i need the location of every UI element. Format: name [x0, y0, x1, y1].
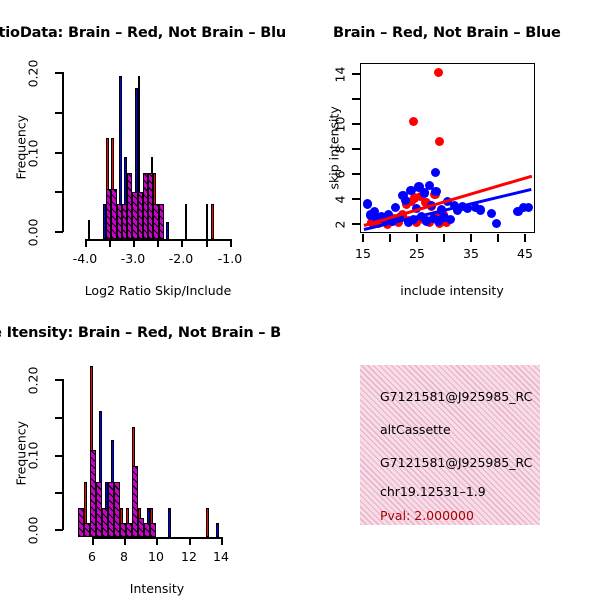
scatter-xticklabel-45: 45 — [505, 246, 545, 261]
scatter-xlabel: include intensity — [377, 283, 527, 298]
scatter-title: Brain – Red, Not Brain – Blue — [333, 25, 561, 41]
histogram-bar-overlap — [150, 523, 156, 537]
histogram-bar-brain — [206, 204, 209, 239]
info-line-probe-id: G7121581@J925985_RC — [380, 455, 532, 470]
scatter-point-not-brain — [476, 205, 485, 214]
scatter-ytick-6 — [352, 173, 360, 175]
panel-ratio-histogram: RatioData: Brain – Red, Not Brain – Blu … — [0, 0, 300, 300]
scatter-yticklabel-6: 6 — [333, 163, 348, 187]
scatter-point-brain — [434, 68, 443, 77]
scatter-yticklabel-14: 14 — [333, 59, 348, 91]
scatter-point-not-brain — [524, 203, 533, 212]
scatter-yticklabel-10: 10 — [333, 109, 348, 141]
scatter-ytick-12 — [352, 98, 360, 100]
scatter-point-not-brain — [431, 168, 440, 177]
scatter-xtick-30 — [443, 234, 445, 242]
scatter-xticklabel-25: 25 — [397, 246, 437, 261]
scatter-yticklabel-2: 2 — [333, 213, 348, 237]
panel-scatter: Brain – Red, Not Brain – Blue skip inten… — [300, 0, 600, 300]
scatter-point-not-brain — [492, 219, 501, 228]
scatter-ytick-14 — [352, 73, 360, 75]
scatter-point-not-brain — [431, 187, 440, 196]
scatter-point-not-brain — [446, 215, 455, 224]
scatter-yticklabel-4: 4 — [333, 188, 348, 212]
scatter-ytick-2 — [352, 223, 360, 225]
scatter-xtick-40 — [497, 234, 499, 242]
histogram-bar-not-brain — [88, 220, 91, 239]
scatter-xtick-15 — [362, 234, 364, 242]
histogram-bar-brain — [206, 508, 209, 537]
info-line-event-type: altCassette — [380, 422, 451, 437]
scatter-plot-area — [360, 63, 535, 233]
scatter-xticklabel-35: 35 — [451, 246, 491, 261]
histogram-bar-not-brain — [166, 222, 169, 239]
info-line-gene-id: G7121581@J925985_RC — [380, 389, 532, 404]
ratio-histogram-bars — [0, 0, 300, 300]
scatter-point-brain — [409, 117, 418, 126]
scatter-xtick-25 — [416, 234, 418, 242]
scatter-xtick-45 — [524, 234, 526, 242]
scatter-ytick-8 — [352, 148, 360, 150]
panel-intensity-histogram: ne Itensity: Brain – Red, Not Brain – B … — [0, 300, 300, 600]
histogram-bar-not-brain — [216, 523, 219, 537]
info-line-coordinates: chr19.12531–1.9 — [380, 484, 486, 499]
panel-info: G7121581@J925985_RC altCassette G7121581… — [300, 300, 600, 600]
scatter-xtick-20 — [389, 234, 391, 242]
intensity-histogram-bars — [0, 300, 300, 600]
histogram-bar-not-brain — [168, 508, 171, 537]
histogram-bar-brain — [211, 204, 214, 239]
scatter-ytick-10 — [352, 123, 360, 125]
scatter-ytick-4 — [352, 198, 360, 200]
histogram-bar-brain — [185, 204, 188, 239]
scatter-point-brain — [435, 137, 444, 146]
info-line-pval: Pval: 2.000000 — [380, 508, 474, 523]
scatter-point-not-brain — [487, 209, 496, 218]
scatter-xticklabel-15: 15 — [343, 246, 383, 261]
scatter-xtick-35 — [470, 234, 472, 242]
histogram-bar-overlap — [159, 204, 164, 239]
annotation-box: G7121581@J925985_RC altCassette G7121581… — [360, 365, 540, 525]
scatter-yticklabel-8: 8 — [333, 138, 348, 162]
